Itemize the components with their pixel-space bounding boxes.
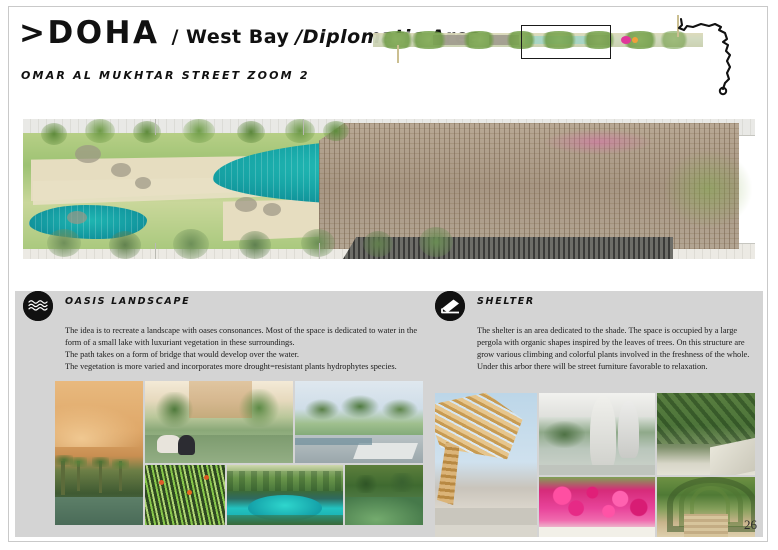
plan-tree [363, 231, 393, 257]
qatar-coastline-icon [675, 11, 761, 99]
plan-rock [111, 163, 131, 177]
section-oasis-landscape: OASIS LANDSCAPE The idea is to recreate … [23, 291, 423, 529]
oasis-paragraph-1: The idea is to recreate a landscape with… [65, 325, 423, 349]
plan-content [23, 119, 755, 259]
plan-tree [301, 229, 335, 257]
plan-tree [41, 123, 67, 145]
photo-white-organic-canopy[interactable] [539, 393, 655, 475]
water-waves-icon [23, 291, 53, 321]
plan-plot-divider [155, 119, 156, 135]
plan-rock [135, 177, 151, 189]
plan-tree [239, 231, 271, 259]
oasis-heading: OASIS LANDSCAPE [23, 291, 423, 325]
description-panel: OASIS LANDSCAPE The idea is to recreate … [15, 291, 763, 537]
presentation-board: >DOHA / West Bay /Diplomatic Area OMAR A… [8, 6, 768, 542]
shelter-photo-grid [435, 393, 755, 541]
plan-rock [263, 203, 281, 216]
photo-lake-garden-render[interactable] [145, 381, 293, 463]
plan-rock [75, 145, 101, 163]
plan-tree [173, 229, 209, 259]
plan-tree [323, 121, 349, 141]
plan-tree [85, 119, 115, 143]
shelter-description: The shelter is an area dedicated to the … [477, 325, 755, 373]
plan-rock [67, 211, 87, 224]
plan-pergola-greenery [663, 149, 753, 229]
oasis-paragraph-2: The path takes on a form of bridge that … [65, 349, 423, 361]
plan-plot-divider [319, 243, 320, 259]
plan-tree [109, 231, 141, 259]
photo-urban-park-umbrella-pines[interactable] [295, 381, 423, 463]
photo-vine-covered-arcade[interactable] [657, 477, 755, 537]
plan-tree [237, 121, 265, 143]
key-plan-green-2 [407, 31, 451, 49]
oasis-title: OASIS LANDSCAPE [65, 296, 190, 307]
section-shelter: SHELTER The shelter is an area dedicated… [435, 291, 755, 541]
shelter-heading: SHELTER [435, 291, 755, 325]
plan-tree [133, 121, 161, 143]
shelter-paragraph-1: The shelter is an area dedicated to the … [477, 325, 755, 373]
photo-turquoise-lagoon-oasis[interactable] [227, 465, 343, 525]
key-plan-strip [373, 19, 703, 61]
key-plan-green-3 [459, 31, 499, 49]
plan-tree [47, 229, 81, 257]
plan-tree [285, 119, 315, 143]
photo-reed-stems-closeup[interactable] [145, 465, 225, 525]
oasis-description: The idea is to recreate a landscape with… [65, 325, 423, 373]
masterplan-drawing [15, 105, 763, 281]
photo-desert-dunes-palm-oasis[interactable] [55, 381, 143, 525]
key-plan-poi-marker-2 [632, 37, 638, 43]
key-plan-poi-marker [621, 36, 631, 44]
oasis-photo-grid [23, 381, 423, 529]
plan-tree [419, 227, 453, 257]
plan-rock [235, 197, 257, 212]
photo-green-planted-wall[interactable] [657, 393, 755, 475]
zoom-extent-marker [521, 25, 611, 59]
shelter-title: SHELTER [477, 296, 535, 307]
page-subtitle: OMAR AL MUKHTAR STREET ZOOM 2 [21, 69, 310, 82]
board-header: >DOHA / West Bay /Diplomatic Area OMAR A… [9, 7, 767, 103]
plan-plot-divider [303, 119, 304, 135]
plan-plot-divider [155, 243, 156, 259]
plan-tree [183, 119, 215, 143]
photo-bougainvillea-flowers[interactable] [539, 477, 655, 537]
oasis-paragraph-3: The vegetation is more varied and incorp… [65, 361, 423, 373]
photo-lily-pond-vegetation[interactable] [345, 465, 423, 525]
key-plan-axis-pin-left [397, 45, 399, 63]
title-west-bay: / West Bay [172, 26, 290, 48]
photo-timber-lattice-pergola[interactable] [435, 393, 537, 537]
page-number: 26 [744, 517, 757, 533]
canopy-roof-icon [435, 291, 465, 321]
plan-climbing-flowers [543, 129, 653, 155]
title-doha: >DOHA [19, 15, 160, 51]
